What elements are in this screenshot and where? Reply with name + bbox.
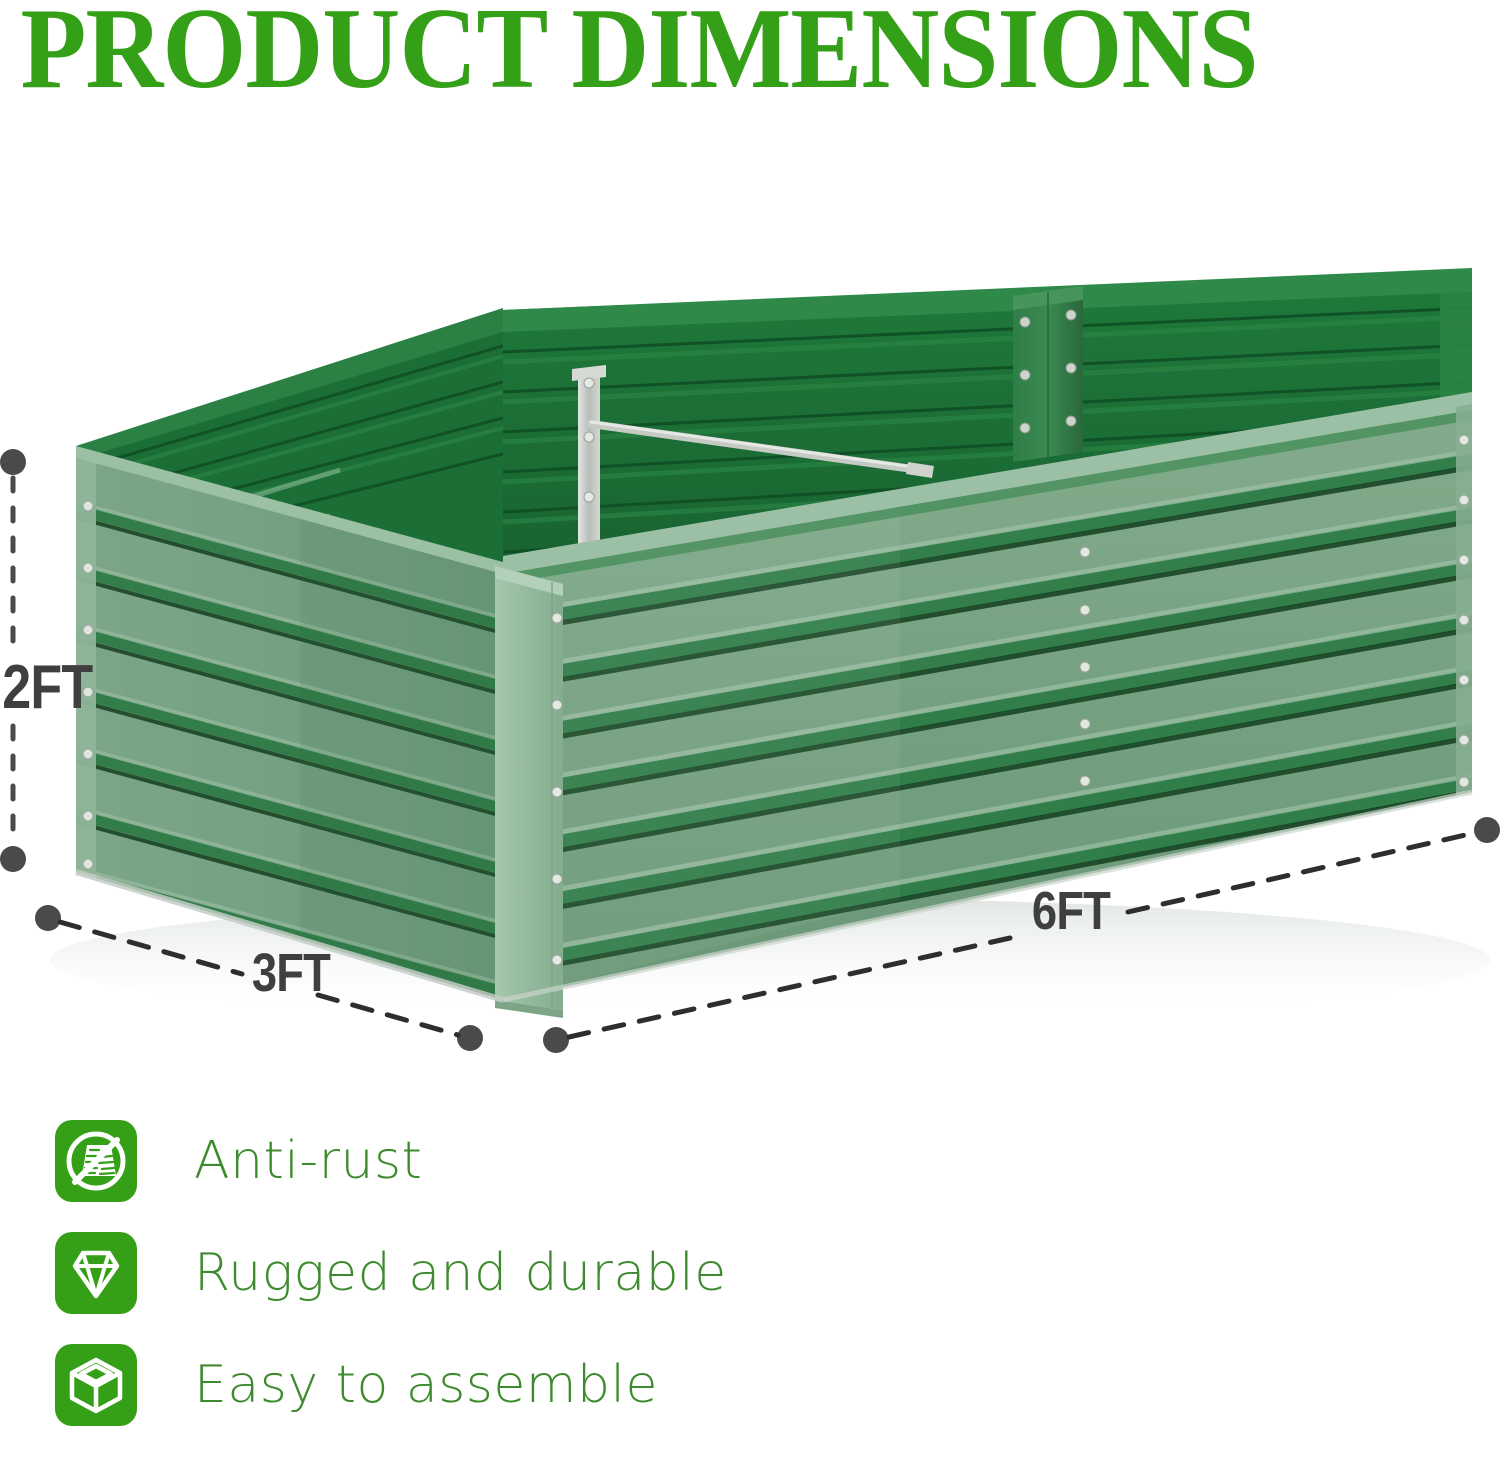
back-corner-post	[1013, 286, 1083, 462]
dimension-label-width: 6FT	[1025, 880, 1117, 942]
product-illustration	[0, 0, 1500, 1100]
dimension-label-height: 2FT	[2, 652, 68, 724]
feature-label: Rugged and durable	[194, 1243, 727, 1303]
feature-item-easy-assemble: Easy to assemble	[55, 1329, 955, 1441]
feature-item-anti-rust: Anti-rust	[55, 1105, 955, 1217]
feature-item-rugged-durable: Rugged and durable	[55, 1217, 955, 1329]
diamond-gem-icon	[55, 1232, 137, 1314]
feature-label: Easy to assemble	[194, 1355, 658, 1415]
assembly-box-icon	[55, 1344, 137, 1426]
feature-label: Anti-rust	[194, 1131, 422, 1191]
feature-list: Anti-rust Rugged and durable	[55, 1105, 955, 1441]
no-rust-icon	[55, 1120, 137, 1202]
dimension-label-depth: 3FT	[252, 942, 314, 1004]
front-corner-post	[495, 566, 563, 1018]
